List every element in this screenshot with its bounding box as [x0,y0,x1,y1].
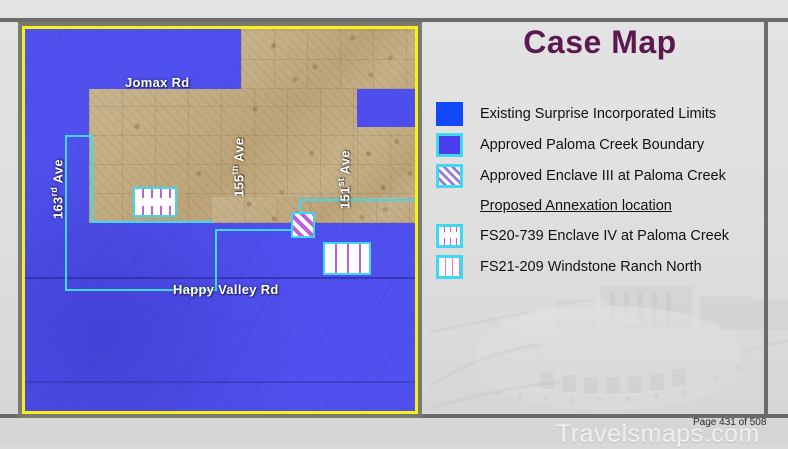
legend-swatch-bordered-blue-icon [436,133,463,157]
legend-swatch-diagonal-hatch-icon [436,164,463,188]
map-wash-line-2 [25,381,415,383]
paloma-boundary-seg-1 [65,135,67,291]
legend-item-approved-paloma-creek-boundary[interactable]: Approved Paloma Creek Boundary [436,129,761,160]
map-canvas[interactable]: Jomax Rd Happy Valley Rd 163rd Ave 155th… [25,29,415,411]
legend-swatch-vertical-dash-grid-icon [436,224,463,248]
map-label-163rd-ave: 163rd Ave [49,159,65,219]
legend-item-approved-enclave-iii-at-paloma-creek[interactable]: Approved Enclave III at Paloma Creek [436,160,761,191]
legend-heading-proposed-annexation-location: Proposed Annexation location [480,198,672,214]
patch-fs20-739-enclave-iv[interactable] [133,187,177,217]
paloma-boundary-seg-5 [65,289,217,291]
legend-item-fs21-209-windstone-ranch-north[interactable]: FS21-209 Windstone Ranch North [436,251,761,282]
paloma-boundary-seg-2 [65,135,93,137]
legend-label-fs20-739-enclave-iv-at-paloma-creek: FS20-739 Enclave IV at Paloma Creek [480,228,729,244]
legend-label-existing-surprise-incorporated-limits: Existing Surprise Incorporated Limits [480,106,716,122]
map-wash-line-1 [25,277,415,279]
paloma-boundary-seg-9 [299,199,415,201]
page-title: Case Map [440,24,760,61]
legend-label-fs21-209-windstone-ranch-north: FS21-209 Windstone Ranch North [480,259,702,275]
satellite-area-north [241,29,415,89]
legend: Existing Surprise Incorporated Limits Ap… [436,98,761,282]
legend-swatch-crosshatch-grid-icon [436,255,463,279]
frame-line-right [764,18,768,418]
paloma-boundary-seg-4 [91,221,213,223]
map-label-jomax-rd: Jomax Rd [125,75,190,90]
legend-item-existing-surprise-incorporated-limits[interactable]: Existing Surprise Incorporated Limits [436,98,761,129]
paloma-boundary-seg-7 [215,229,301,231]
legend-section-proposed-annexation: Proposed Annexation location [436,191,761,220]
slide-background: Jomax Rd Happy Valley Rd 163rd Ave 155th… [0,0,788,443]
paloma-boundary-seg-6 [215,229,217,291]
watermark: Travelsmaps.com [556,420,760,449]
legend-swatch-solid-blue-icon [436,102,463,126]
paloma-boundary-seg-3 [91,135,93,223]
legend-label-approved-paloma-creek-boundary: Approved Paloma Creek Boundary [480,137,704,153]
patch-fs21-209-windstone-ranch-north[interactable] [323,242,371,275]
patch-approved-enclave-iii[interactable] [291,212,315,238]
map-yellow-border: Jomax Rd Happy Valley Rd 163rd Ave 155th… [22,26,418,414]
legend-label-approved-enclave-iii-at-paloma-creek: Approved Enclave III at Paloma Creek [480,168,726,184]
legend-item-fs20-739-enclave-iv-at-paloma-creek[interactable]: FS20-739 Enclave IV at Paloma Creek [436,220,761,251]
